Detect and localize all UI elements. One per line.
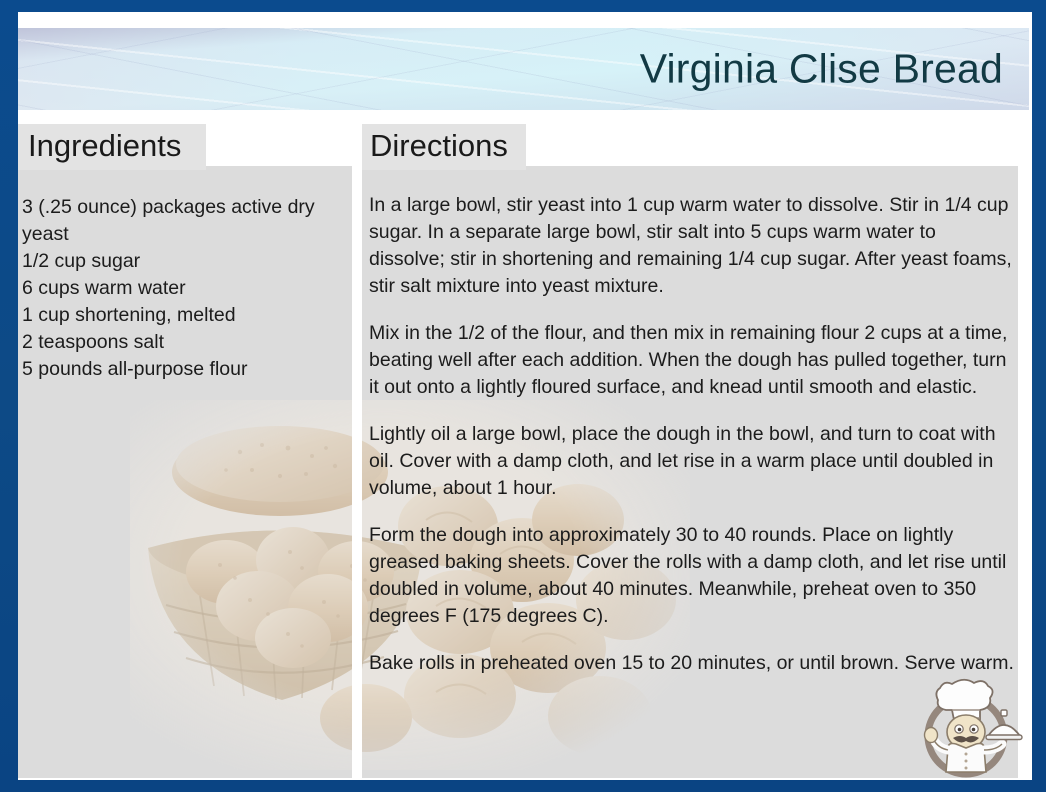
page-title: Virginia Clise Bread (640, 46, 1003, 93)
title-banner: Virginia Clise Bread (18, 28, 1029, 110)
ingredients-heading: Ingredients (28, 128, 181, 164)
directions-steps: In a large bowl, stir yeast into 1 cup w… (369, 192, 1017, 677)
direction-step: Form the dough into approximately 30 to … (369, 522, 1017, 630)
list-item: 1 cup shortening, melted (22, 302, 334, 329)
direction-step: Mix in the 1/2 of the flour, and then mi… (369, 320, 1017, 401)
direction-step: In a large bowl, stir yeast into 1 cup w… (369, 192, 1017, 300)
list-item: 1/2 cup sugar (22, 248, 334, 275)
list-item: 6 cups warm water (22, 275, 334, 302)
slide-frame: Virginia Clise Bread (0, 0, 1046, 792)
list-item: 2 teaspoons salt (22, 329, 334, 356)
directions-heading: Directions (370, 128, 508, 164)
list-item: 3 (.25 ounce) packages active dry yeast (22, 194, 334, 248)
ingredients-list: 3 (.25 ounce) packages active dry yeast … (22, 194, 334, 383)
direction-step: Bake rolls in preheated oven 15 to 20 mi… (369, 650, 1017, 677)
direction-step: Lightly oil a large bowl, place the doug… (369, 421, 1017, 502)
panel-gutter (352, 124, 362, 778)
list-item: 5 pounds all-purpose flour (22, 356, 334, 383)
